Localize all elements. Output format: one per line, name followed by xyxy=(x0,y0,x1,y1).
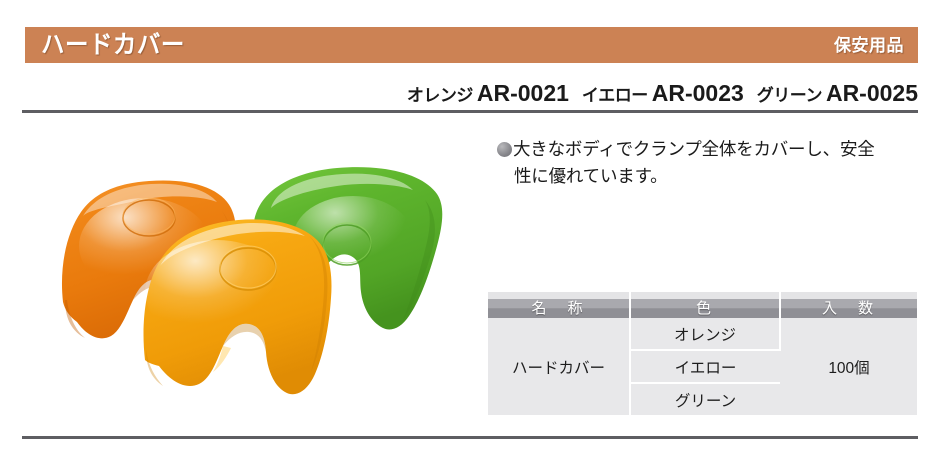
product-photo-illustration xyxy=(45,150,475,415)
spec-header-color-label: 色 xyxy=(696,297,714,318)
spec-table: 名 称 色 入 数 ハードカバー オレンジ 100個 イエロー グリーン xyxy=(488,292,917,415)
spec-cell-color-2: グリーン xyxy=(630,383,780,415)
description-line-2: 性に優れています。 xyxy=(497,163,922,190)
model-code-line: オレンジAR-0021イエローAR-0023グリーンAR-0025 xyxy=(407,80,918,107)
model-code-0: AR-0021 xyxy=(477,80,569,106)
spec-cell-color-0: オレンジ xyxy=(630,318,780,350)
spec-table-header-row: 名 称 色 入 数 xyxy=(488,292,917,318)
spec-cell-quantity: 100個 xyxy=(780,318,917,415)
description-block: 大きなボディでクランプ全体をカバーし、安全 性に優れています。 xyxy=(497,136,922,189)
bullet-icon xyxy=(497,142,512,157)
model-code-1: AR-0023 xyxy=(652,80,744,106)
page-title: ハードカバー xyxy=(41,33,185,58)
table-row: ハードカバー オレンジ 100個 xyxy=(488,318,917,350)
model-color-name-1: イエロー xyxy=(582,86,648,105)
category-label: 保安用品 xyxy=(834,37,904,54)
product-photo xyxy=(45,150,475,415)
spec-header-qty-label: 入 数 xyxy=(822,297,876,318)
divider-bottom xyxy=(22,436,918,439)
description-line-1: 大きなボディでクランプ全体をカバーし、安全 xyxy=(513,139,875,159)
spec-header-name: 名 称 xyxy=(488,292,630,318)
spec-header-name-label: 名 称 xyxy=(531,297,585,318)
model-code-2: AR-0025 xyxy=(826,80,918,106)
spec-cell-product-name: ハードカバー xyxy=(488,318,630,415)
divider-top xyxy=(22,110,918,113)
spec-header-color: 色 xyxy=(630,292,780,318)
spec-header-qty: 入 数 xyxy=(780,292,917,318)
model-color-name-2: グリーン xyxy=(757,86,822,105)
spec-cell-color-1: イエロー xyxy=(630,350,780,383)
model-color-name-0: オレンジ xyxy=(407,86,473,105)
header-band: ハードカバー 保安用品 xyxy=(25,27,918,63)
